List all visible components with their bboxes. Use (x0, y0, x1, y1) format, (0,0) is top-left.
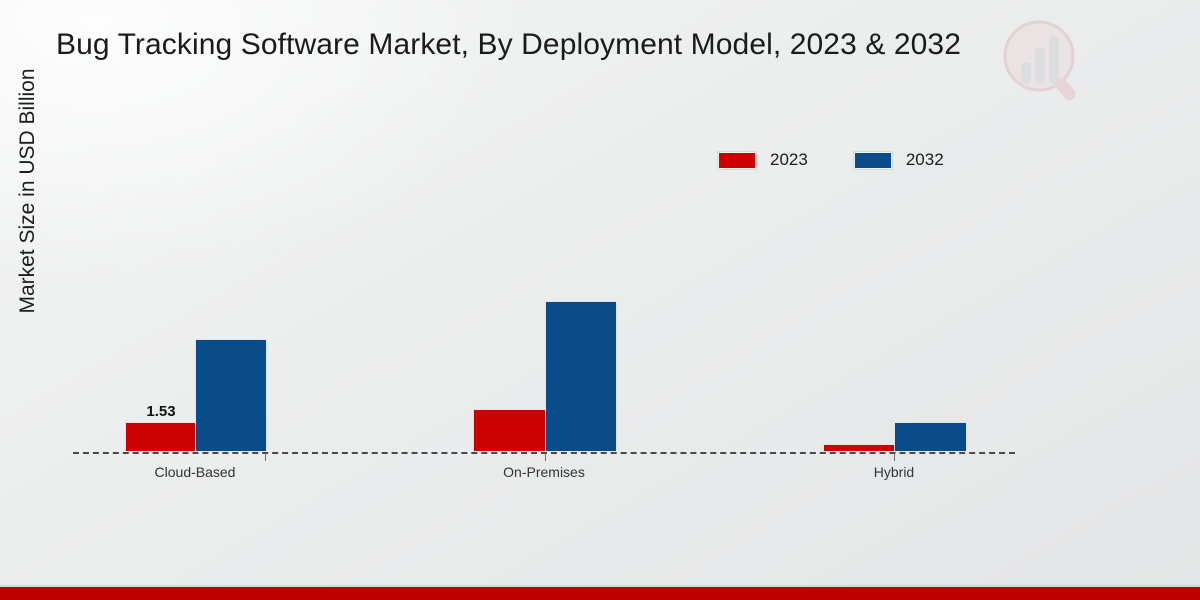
x-axis-tick-hybrid (894, 453, 895, 461)
bar-group-hybrid: Hybrid (823, 150, 965, 452)
y-axis-title: Market Size in USD Billion (11, 11, 45, 371)
y-axis-title-text: Market Size in USD Billion (16, 68, 40, 313)
bar-2023-cloud-based[interactable]: 1.53 (125, 422, 197, 452)
x-axis-tick-on-premises (545, 453, 546, 461)
bar-value-2023-cloud-based: 1.53 (146, 403, 175, 420)
bar-2023-on-premises[interactable] (473, 409, 547, 452)
bar-2023-hybrid[interactable] (823, 444, 896, 452)
page-title: Bug Tracking Software Market, By Deploym… (56, 28, 1096, 62)
bar-group-on-premises: On-Premises (473, 150, 615, 452)
plot-area: 1.53 Cloud-Based On-Premises Hybrid (73, 150, 1015, 452)
x-axis-tick-cloud-based (265, 453, 266, 461)
x-tick-label-cloud-based: Cloud-Based (155, 464, 236, 480)
chart-canvas: Bug Tracking Software Market, By Deploym… (0, 0, 1200, 600)
x-tick-label-hybrid: Hybrid (874, 464, 914, 480)
bar-2032-cloud-based[interactable] (195, 339, 267, 452)
bar-2032-hybrid[interactable] (894, 422, 967, 452)
x-tick-label-on-premises: On-Premises (503, 464, 585, 480)
x-axis-baseline (73, 452, 1015, 454)
bar-2032-on-premises[interactable] (545, 301, 617, 452)
bar-group-cloud-based: 1.53 Cloud-Based (125, 150, 265, 452)
footer-accent-bar (0, 587, 1200, 600)
